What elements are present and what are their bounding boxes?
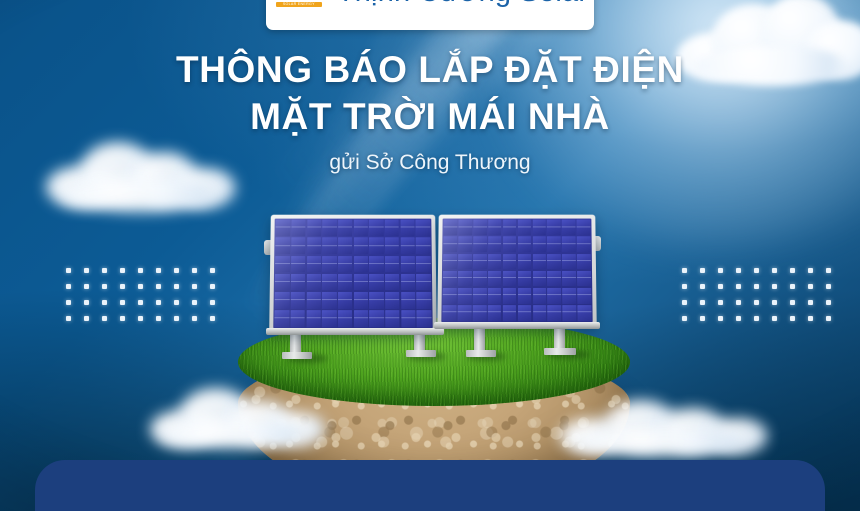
- solar-cell: [338, 310, 352, 327]
- grid-dot: [66, 316, 71, 321]
- grid-dot: [826, 316, 831, 321]
- solar-cell: [338, 274, 352, 291]
- bottom-panel: [35, 460, 825, 511]
- solar-cell: [459, 220, 473, 235]
- grid-dot: [120, 316, 125, 321]
- solar-cell: [416, 256, 430, 273]
- mounting-rail: [434, 322, 600, 329]
- solar-cell: [577, 271, 591, 287]
- grid-dot: [192, 268, 197, 273]
- grid-dot: [808, 268, 813, 273]
- grid-dot: [790, 316, 795, 321]
- solar-cell: [385, 310, 399, 327]
- solar-cell: [369, 310, 383, 327]
- solar-cell: [338, 238, 352, 255]
- solar-cell: [307, 274, 321, 291]
- solar-cell: [322, 274, 336, 291]
- grid-dot: [192, 284, 197, 289]
- solar-cell: [275, 310, 290, 327]
- panel-glass: [273, 219, 432, 329]
- grid-dot: [826, 300, 831, 305]
- solar-cell: [275, 292, 290, 309]
- solar-cell: [473, 237, 487, 253]
- solar-cell: [532, 237, 545, 253]
- grid-dot: [192, 316, 197, 321]
- solar-cell: [443, 271, 457, 287]
- solar-cell: [369, 292, 383, 309]
- grid-dot: [682, 300, 687, 305]
- solar-cell: [533, 305, 547, 321]
- solar-cell: [354, 220, 368, 236]
- grid-dot: [682, 284, 687, 289]
- solar-cell: [488, 237, 501, 253]
- grid-dot: [700, 284, 705, 289]
- solar-cell: [488, 288, 502, 304]
- grid-dot: [156, 284, 161, 289]
- grid-dot: [210, 300, 215, 305]
- headline-line-1: THÔNG BÁO LẮP ĐẶT ĐIỆN: [0, 46, 860, 93]
- solar-cell: [518, 237, 531, 253]
- solar-cell: [458, 254, 472, 270]
- solar-cell: [533, 288, 547, 304]
- solar-cell: [354, 292, 368, 309]
- grid-dot: [138, 268, 143, 273]
- solar-cell: [473, 254, 487, 270]
- solar-cell: [443, 305, 457, 321]
- solar-cell: [275, 256, 289, 273]
- grid-dot: [210, 268, 215, 273]
- solar-cell: [416, 238, 430, 255]
- solar-cell: [307, 256, 321, 273]
- solar-panel: [269, 215, 437, 333]
- grid-dot: [156, 268, 161, 273]
- solar-cell: [291, 238, 305, 255]
- grid-dot: [700, 300, 705, 305]
- panel-glass: [441, 219, 592, 323]
- solar-cell: [276, 238, 290, 255]
- solar-cell: [400, 220, 414, 236]
- solar-cell: [322, 238, 336, 255]
- grid-dot: [772, 268, 777, 273]
- solar-cell: [307, 238, 321, 255]
- grid-dot: [808, 316, 813, 321]
- brand-name-text: Thịnh Cường Solar: [337, 0, 588, 9]
- grid-dot: [682, 268, 687, 273]
- grid-dot: [120, 268, 125, 273]
- logo-mark-tagline: SOLAR ENERGY: [276, 2, 322, 7]
- solar-cell: [275, 274, 289, 291]
- solar-cell: [562, 237, 576, 253]
- grid-dot: [718, 284, 723, 289]
- solar-cell: [354, 238, 368, 255]
- solar-cell: [400, 238, 414, 255]
- solar-cell: [369, 274, 383, 291]
- solar-cell: [547, 254, 561, 270]
- solar-cell: [518, 305, 532, 321]
- solar-cell: [518, 271, 532, 287]
- grid-dot: [754, 300, 759, 305]
- grid-dot: [772, 316, 777, 321]
- grid-dot: [174, 268, 179, 273]
- solar-cell: [562, 220, 576, 235]
- grid-dot: [808, 284, 813, 289]
- solar-cell: [354, 256, 368, 273]
- solar-cell: [533, 271, 547, 287]
- solar-cell: [518, 288, 532, 304]
- dot-grid-left: [66, 268, 215, 321]
- solar-cell: [307, 220, 321, 236]
- grid-dot: [120, 300, 125, 305]
- grid-dot: [718, 316, 723, 321]
- grid-dot: [66, 268, 71, 273]
- solar-cell: [488, 271, 502, 287]
- solar-cell: [473, 271, 487, 287]
- solar-cell: [488, 254, 502, 270]
- solar-cell: [416, 220, 430, 236]
- solar-cell: [547, 288, 561, 304]
- grid-dot: [790, 300, 795, 305]
- solar-cell: [306, 310, 320, 327]
- solar-cell: [562, 288, 576, 304]
- solar-cell: [547, 220, 560, 235]
- solar-cell: [276, 220, 290, 236]
- grid-dot: [192, 300, 197, 305]
- grid-dot: [66, 300, 71, 305]
- grid-dot: [736, 268, 741, 273]
- mounting-rail: [266, 328, 444, 335]
- solar-cell: [444, 237, 458, 253]
- solar-cell: [577, 237, 591, 253]
- solar-cell: [503, 305, 517, 321]
- grid-dot: [826, 268, 831, 273]
- solar-cell: [290, 310, 305, 327]
- poster-canvas: THINH CUONG SOLAR ENERGY Thịnh Cường Sol…: [0, 0, 860, 511]
- solar-cell: [323, 220, 337, 236]
- thinh-cuong-logo-icon: THINH CUONG SOLAR ENERGY: [272, 0, 326, 9]
- grid-dot: [84, 284, 89, 289]
- solar-cell: [385, 220, 399, 236]
- dot-grid-right: [682, 268, 831, 321]
- solar-cell: [577, 220, 591, 235]
- solar-cell: [547, 237, 561, 253]
- grid-dot: [772, 300, 777, 305]
- headline-block: THÔNG BÁO LẮP ĐẶT ĐIỆN MẶT TRỜI MÁI NHÀ …: [0, 46, 860, 175]
- solar-cell: [385, 292, 399, 309]
- solar-cell: [488, 220, 501, 235]
- solar-cell: [577, 254, 591, 270]
- grid-dot: [120, 284, 125, 289]
- grid-dot: [826, 284, 831, 289]
- grid-dot: [102, 300, 107, 305]
- solar-cell: [401, 292, 415, 309]
- solar-cell: [369, 220, 383, 236]
- grid-dot: [138, 316, 143, 321]
- solar-cell: [473, 220, 486, 235]
- solar-cell: [322, 310, 336, 327]
- solar-cell: [458, 305, 472, 321]
- grid-dot: [156, 300, 161, 305]
- solar-cell: [291, 274, 305, 291]
- solar-cell: [306, 292, 320, 309]
- solar-cell: [322, 256, 336, 273]
- solar-cell: [338, 256, 352, 273]
- grid-dot: [84, 316, 89, 321]
- solar-cell: [369, 256, 383, 273]
- grid-dot: [138, 300, 143, 305]
- grid-dot: [754, 268, 759, 273]
- solar-cell: [562, 254, 576, 270]
- solar-cell: [385, 274, 399, 291]
- solar-cell: [369, 238, 383, 255]
- grid-dot: [736, 316, 741, 321]
- grid-dot: [790, 284, 795, 289]
- solar-cell: [548, 305, 562, 321]
- solar-cell: [503, 220, 516, 235]
- solar-cell: [354, 310, 368, 327]
- solar-cell: [401, 256, 415, 273]
- grid-dot: [174, 300, 179, 305]
- grid-dot: [102, 268, 107, 273]
- grid-dot: [808, 300, 813, 305]
- grid-dot: [772, 284, 777, 289]
- grid-dot: [174, 316, 179, 321]
- solar-cell: [503, 288, 517, 304]
- solar-cell: [385, 256, 399, 273]
- grid-dot: [682, 316, 687, 321]
- solar-cell: [444, 220, 458, 235]
- grid-dot: [754, 284, 759, 289]
- solar-cell: [518, 220, 531, 235]
- grid-dot: [66, 284, 71, 289]
- solar-cell: [473, 305, 487, 321]
- solar-cell: [503, 254, 516, 270]
- grid-dot: [156, 316, 161, 321]
- grid-dot: [84, 300, 89, 305]
- solar-cell: [443, 288, 457, 304]
- grid-dot: [102, 316, 107, 321]
- solar-cell: [577, 305, 591, 321]
- grid-dot: [700, 268, 705, 273]
- solar-cell: [417, 310, 432, 327]
- solar-cell: [291, 220, 305, 236]
- grid-dot: [736, 300, 741, 305]
- grid-dot: [790, 268, 795, 273]
- solar-cell: [322, 292, 336, 309]
- solar-cell: [533, 254, 547, 270]
- grid-dot: [174, 284, 179, 289]
- solar-cell: [532, 220, 545, 235]
- solar-cell: [458, 237, 472, 253]
- brand-logo-bar[interactable]: THINH CUONG SOLAR ENERGY Thịnh Cường Sol…: [266, 0, 594, 30]
- grid-dot: [102, 284, 107, 289]
- solar-cell: [577, 288, 591, 304]
- solar-cell: [547, 271, 561, 287]
- grid-dot: [84, 268, 89, 273]
- solar-cell: [562, 271, 576, 287]
- grid-dot: [210, 284, 215, 289]
- headline-subtitle: gửi Sở Công Thương: [0, 151, 860, 175]
- solar-cell: [354, 274, 368, 291]
- grid-dot: [138, 284, 143, 289]
- grid-dot: [210, 316, 215, 321]
- solar-cell: [473, 288, 487, 304]
- solar-cell: [416, 274, 430, 291]
- solar-cell: [417, 292, 432, 309]
- grid-dot: [736, 284, 741, 289]
- solar-cell: [503, 237, 516, 253]
- grid-dot: [700, 316, 705, 321]
- solar-cell: [338, 220, 352, 236]
- solar-panel: [437, 215, 596, 327]
- solar-cell: [563, 305, 577, 321]
- solar-cell: [458, 271, 472, 287]
- grid-dot: [718, 300, 723, 305]
- solar-panel-array: [270, 214, 596, 360]
- solar-cell: [443, 254, 457, 270]
- solar-cell: [488, 305, 502, 321]
- logo-mark-name: THINH CUONG: [272, 0, 326, 1]
- solar-cell: [503, 271, 517, 287]
- solar-cell: [518, 254, 531, 270]
- headline-line-2: MẶT TRỜI MÁI NHÀ: [0, 93, 860, 140]
- solar-cell: [338, 292, 352, 309]
- grid-dot: [718, 268, 723, 273]
- solar-cell: [385, 238, 399, 255]
- solar-cell: [458, 288, 472, 304]
- solar-cell: [291, 292, 305, 309]
- solar-cell: [401, 310, 416, 327]
- solar-cell: [401, 274, 415, 291]
- solar-cell: [291, 256, 305, 273]
- grid-dot: [754, 316, 759, 321]
